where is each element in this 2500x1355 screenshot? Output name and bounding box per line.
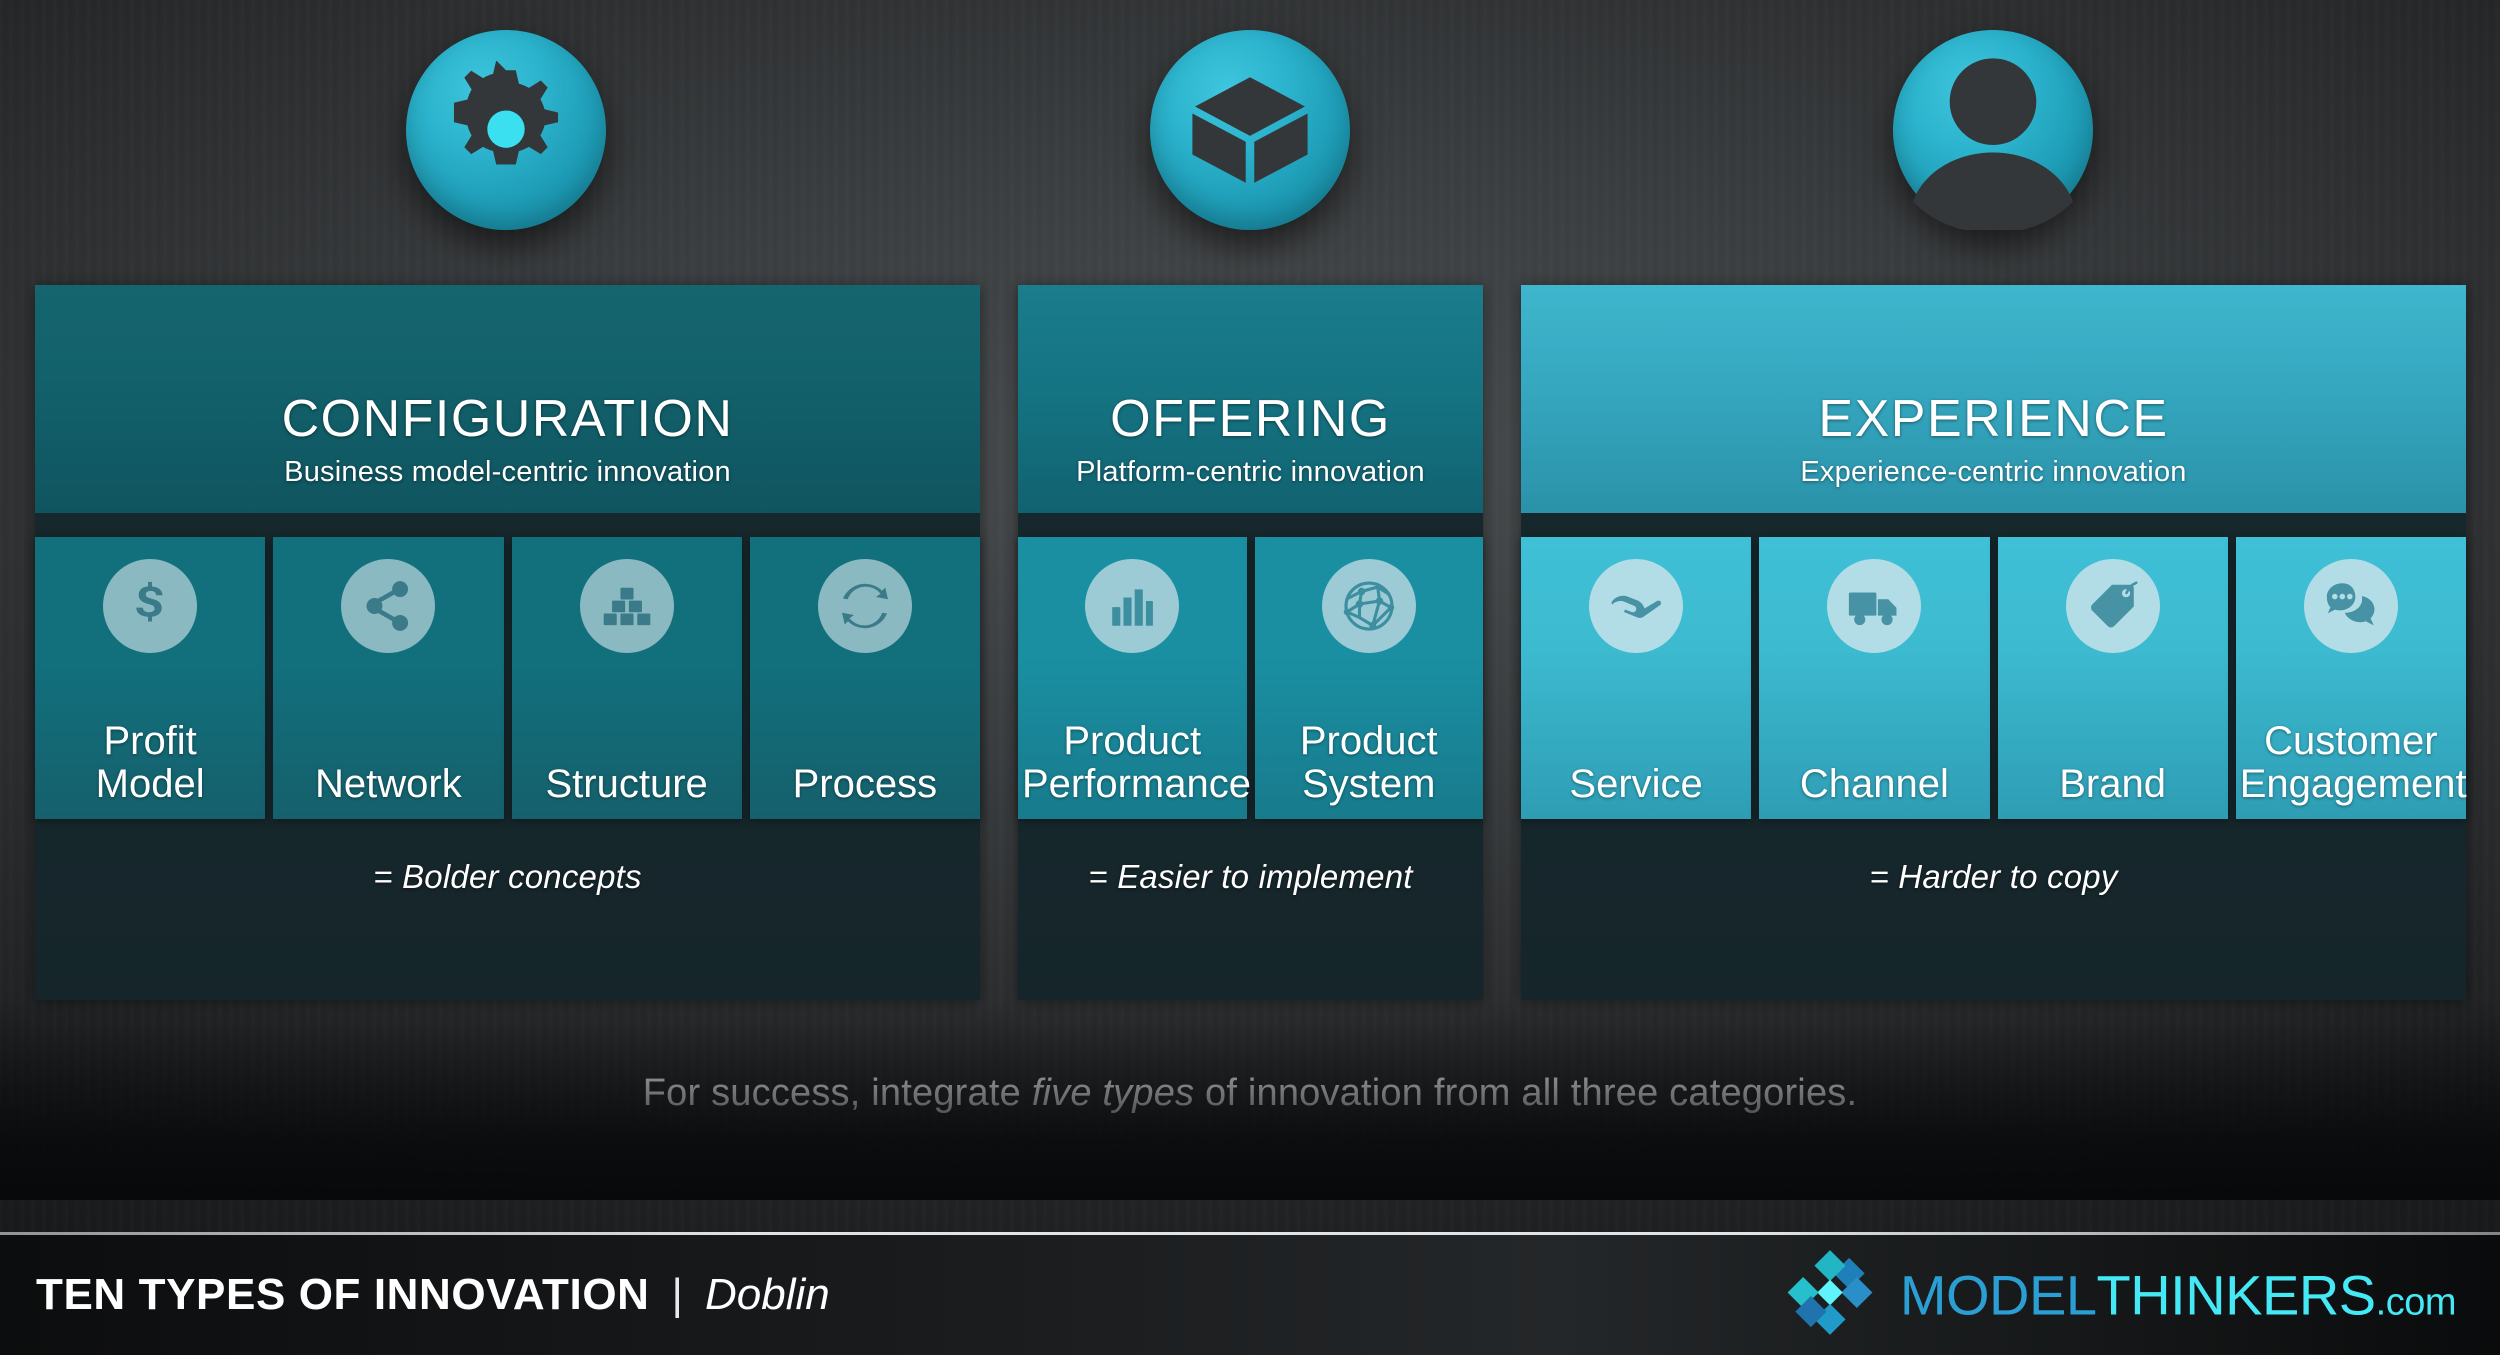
group-header-offering: OFFERING Platform-centric innovation	[1018, 285, 1483, 513]
card-label: Customer Engagement	[2236, 720, 2466, 805]
group-header-configuration: CONFIGURATION Business model-centric inn…	[35, 285, 980, 513]
group-panel-offering: OFFERING Platform-centric innovation Pro…	[1018, 285, 1483, 1000]
group-panel-configuration: CONFIGURATION Business model-centric inn…	[35, 285, 980, 1000]
group-title: OFFERING	[1110, 393, 1391, 446]
card-label: Profit Model	[35, 720, 265, 805]
card-service[interactable]: Service	[1521, 537, 1751, 819]
chat-bubbles-icon	[2304, 559, 2398, 653]
truck-icon	[1827, 559, 1921, 653]
card-label: Service	[1521, 763, 1751, 805]
group-note-offering: = Easier to implement	[1018, 837, 1483, 917]
summary-caption: For success, integrate five types of inn…	[0, 1072, 2500, 1115]
hand-service-icon	[1589, 559, 1683, 653]
caption-before: For success, integrate	[643, 1072, 1032, 1114]
person-icon	[1893, 30, 2093, 230]
footer-attribution: TEN TYPES OF INNOVATION | Doblin	[36, 1270, 830, 1320]
brand-part-dotcom: .com	[2376, 1282, 2456, 1325]
card-process[interactable]: Process	[750, 537, 980, 819]
card-label: Structure	[512, 763, 742, 805]
card-label: Network	[273, 763, 503, 805]
footer-title: TEN TYPES OF INNOVATION	[36, 1270, 650, 1320]
card-label: Channel	[1759, 763, 1989, 805]
group-subtitle: Platform-centric innovation	[1076, 456, 1425, 489]
diagram-board: CONFIGURATION Business model-centric inn…	[0, 0, 2500, 1230]
caption-emphasis: five types	[1032, 1072, 1195, 1114]
card-label: Product Performance	[1018, 720, 1247, 805]
footer-brand[interactable]: MODELTHINKERS.com	[1786, 1247, 2456, 1344]
card-network[interactable]: Network	[273, 537, 503, 819]
card-profit-model[interactable]: Profit Model	[35, 537, 265, 819]
globe-network-icon	[1322, 559, 1416, 653]
infographic-canvas: CONFIGURATION Business model-centric inn…	[0, 0, 2500, 1355]
group-subtitle: Business model-centric innovation	[284, 456, 731, 489]
card-row-experience: Service Channel	[1521, 537, 2466, 819]
card-brand[interactable]: Brand	[1998, 537, 2228, 819]
brand-wordmark[interactable]: MODELTHINKERS.com	[1900, 1263, 2456, 1328]
group-subtitle: Experience-centric innovation	[1800, 456, 2186, 489]
footer-author: Doblin	[705, 1270, 830, 1320]
group-note-experience: = Harder to copy	[1521, 837, 2466, 917]
group-note-configuration: = Bolder concepts	[35, 837, 980, 917]
caption-after: of innovation from all three categories.	[1194, 1072, 1857, 1114]
card-row-configuration: Profit Model Network	[35, 537, 980, 819]
card-label: Process	[750, 763, 980, 805]
footer-bar: TEN TYPES OF INNOVATION | Doblin	[0, 1235, 2500, 1355]
group-title: CONFIGURATION	[282, 393, 734, 446]
footer-separator: |	[672, 1270, 683, 1320]
brand-part-model: MODEL	[1900, 1263, 2097, 1328]
cube-icon	[1150, 30, 1350, 230]
card-product-system[interactable]: Product System	[1255, 537, 1484, 819]
brand-part-thinkers: THINKERS	[2096, 1263, 2375, 1328]
card-channel[interactable]: Channel	[1759, 537, 1989, 819]
card-label: Product System	[1255, 720, 1484, 805]
group-panel-experience: EXPERIENCE Experience-centric innovation…	[1521, 285, 2466, 1000]
refresh-cycle-icon	[818, 559, 912, 653]
group-header-experience: EXPERIENCE Experience-centric innovation	[1521, 285, 2466, 513]
card-row-offering: Product Performance	[1018, 537, 1483, 819]
card-product-performance[interactable]: Product Performance	[1018, 537, 1247, 819]
diamond-lattice-logo-icon	[1786, 1247, 1874, 1344]
price-tag-icon	[2066, 559, 2160, 653]
group-title: EXPERIENCE	[1818, 393, 2168, 446]
gear-icon	[406, 30, 606, 230]
share-network-icon	[341, 559, 435, 653]
card-customer-engagement[interactable]: Customer Engagement	[2236, 537, 2466, 819]
bricks-icon	[580, 559, 674, 653]
card-label: Brand	[1998, 763, 2228, 805]
card-structure[interactable]: Structure	[512, 537, 742, 819]
bar-chart-icon	[1085, 559, 1179, 653]
dollar-icon	[103, 559, 197, 653]
